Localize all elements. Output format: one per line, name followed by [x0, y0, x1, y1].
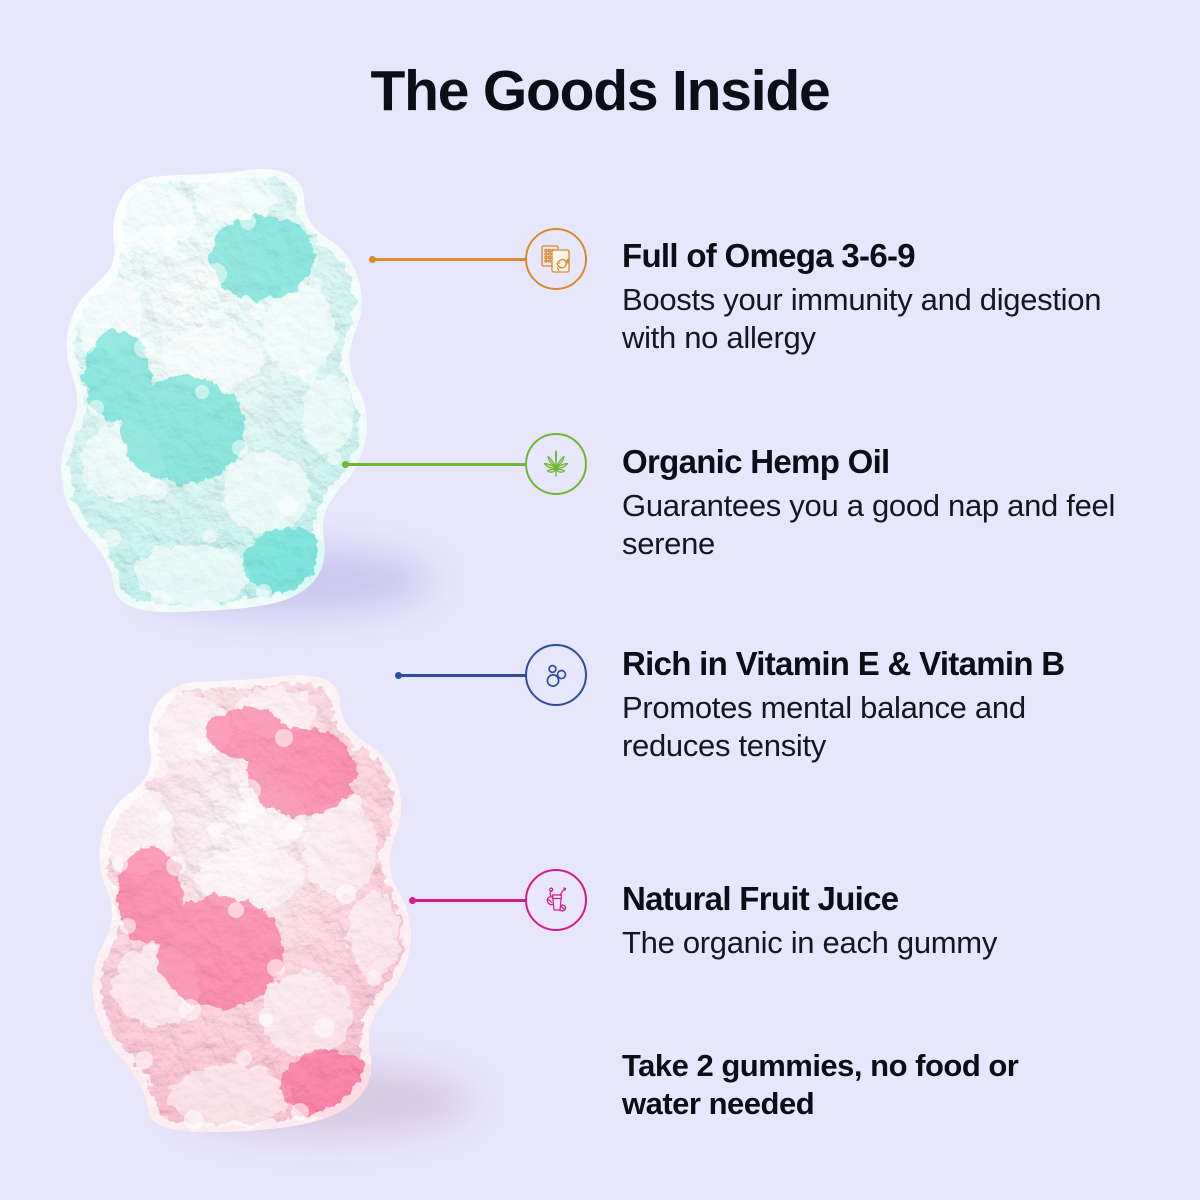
feature-juice: Natural Fruit Juice The organic in each … — [622, 880, 1142, 962]
infographic-canvas: The Goods Inside — [0, 0, 1200, 1200]
connector-line-omega — [372, 258, 526, 261]
feature-vitamin: Rich in Vitamin E & Vitamin B Promotes m… — [622, 645, 1142, 765]
dosage-note: Take 2 gummies, no food or water needed — [622, 1047, 1102, 1124]
omega-fish-card-icon — [525, 228, 587, 290]
connector-line-hemp — [345, 463, 526, 466]
pink-gummy-bear — [78, 672, 428, 1134]
blue-gummy-bear — [52, 162, 382, 614]
vitamin-bubbles-icon — [525, 644, 587, 706]
feature-title: Natural Fruit Juice — [622, 880, 1142, 918]
connector-line-juice — [412, 899, 526, 902]
feature-title: Organic Hemp Oil — [622, 443, 1142, 481]
blue-gummy-art — [52, 162, 382, 614]
feature-description: Promotes mental balance and reduces tens… — [622, 689, 1142, 765]
feature-description: Boosts your immunity and digestion with … — [622, 281, 1142, 357]
pink-gummy-art — [78, 672, 428, 1134]
connector-dot-juice — [409, 897, 416, 904]
connector-dot-omega — [369, 256, 376, 263]
hemp-leaf-icon — [525, 433, 587, 495]
fruit-juice-glass-icon — [525, 869, 587, 931]
page-title: The Goods Inside — [0, 62, 1200, 122]
connector-dot-hemp — [342, 461, 349, 468]
connector-line-vitamin — [398, 674, 526, 677]
feature-title: Full of Omega 3-6-9 — [622, 237, 1142, 275]
feature-description: The organic in each gummy — [622, 924, 1142, 962]
feature-hemp: Organic Hemp Oil Guarantees you a good n… — [622, 443, 1142, 563]
feature-description: Guarantees you a good nap and feel seren… — [622, 487, 1142, 563]
connector-dot-vitamin — [395, 672, 402, 679]
feature-omega: Full of Omega 3-6-9 Boosts your immunity… — [622, 237, 1142, 357]
feature-title: Rich in Vitamin E & Vitamin B — [622, 645, 1142, 683]
